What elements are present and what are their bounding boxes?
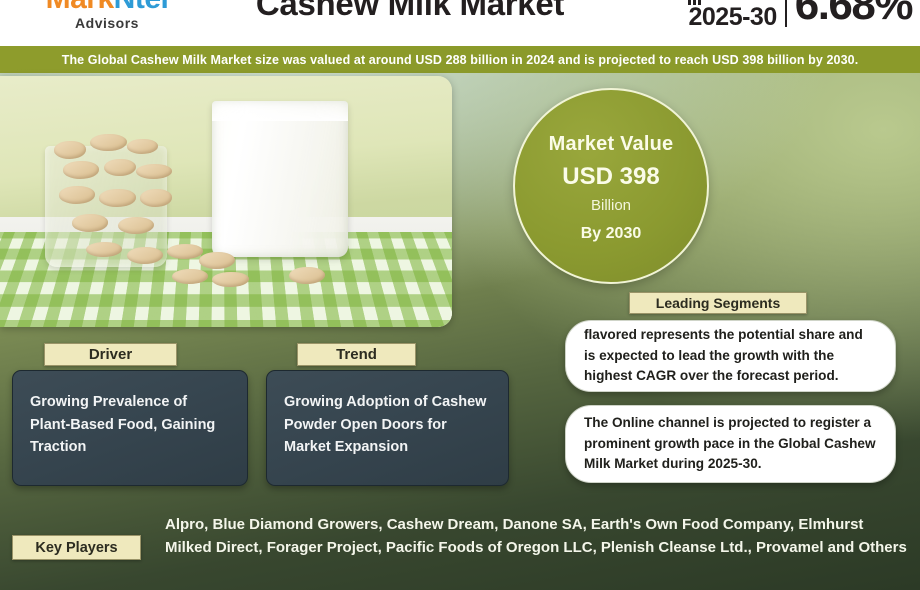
- leading-segment-item-1: flavored represents the potential share …: [565, 320, 896, 392]
- summary-banner-text: The Global Cashew Milk Market size was v…: [62, 53, 859, 67]
- logo-text-mark: Mark: [46, 0, 114, 15]
- leading-segments-tab: Leading Segments: [629, 292, 807, 314]
- market-value-year: By 2030: [581, 225, 642, 243]
- header-bar: MarkNtel Advisors Cashew Milk Market CAG…: [0, 0, 920, 46]
- logo-subtitle: Advisors: [22, 16, 192, 30]
- market-value-label: Market Value: [549, 133, 674, 156]
- market-value-circle: Market Value USD 398 Billion By 2030: [513, 88, 709, 284]
- cagr-value: 6.68%: [795, 0, 912, 30]
- trend-tab: Trend: [297, 343, 416, 366]
- infographic-root: MarkNtel Advisors Cashew Milk Market CAG…: [0, 0, 920, 590]
- trend-text: Growing Adoption of Cashew Powder Open D…: [284, 391, 491, 459]
- leading-segment-text-2: The Online channel is projected to regis…: [584, 413, 877, 475]
- cagr-label-group: CAGR 2025-30: [688, 0, 776, 30]
- leading-segment-item-2: The Online channel is projected to regis…: [565, 405, 896, 483]
- company-logo[interactable]: MarkNtel Advisors: [22, 0, 192, 30]
- page-title: Cashew Milk Market: [195, 0, 625, 22]
- market-value-unit: Billion: [591, 197, 631, 214]
- logo-wordmark: MarkNtel: [22, 0, 192, 14]
- key-players-text: Alpro, Blue Diamond Growers, Cashew Drea…: [165, 514, 910, 560]
- milk-glass: [212, 101, 348, 257]
- cagr-block: CAGR 2025-30 6.68%: [688, 0, 912, 30]
- cagr-divider: [785, 0, 787, 27]
- cagr-period: 2025-30: [688, 5, 776, 30]
- leading-segment-text-1: flavored represents the potential share …: [584, 325, 877, 387]
- summary-banner: The Global Cashew Milk Market size was v…: [0, 46, 920, 73]
- driver-tab: Driver: [44, 343, 177, 366]
- key-players-list: Alpro, Blue Diamond Growers, Cashew Drea…: [165, 514, 910, 560]
- driver-box: Growing Prevalence of Plant-Based Food, …: [12, 370, 248, 486]
- market-value-amount: USD 398: [562, 163, 659, 191]
- driver-text: Growing Prevalence of Plant-Based Food, …: [30, 391, 230, 459]
- trend-box: Growing Adoption of Cashew Powder Open D…: [266, 370, 509, 486]
- logo-text-ntel: Ntel: [114, 0, 169, 15]
- key-players-tab: Key Players: [12, 535, 141, 560]
- cashew-milk-photo: [0, 76, 452, 327]
